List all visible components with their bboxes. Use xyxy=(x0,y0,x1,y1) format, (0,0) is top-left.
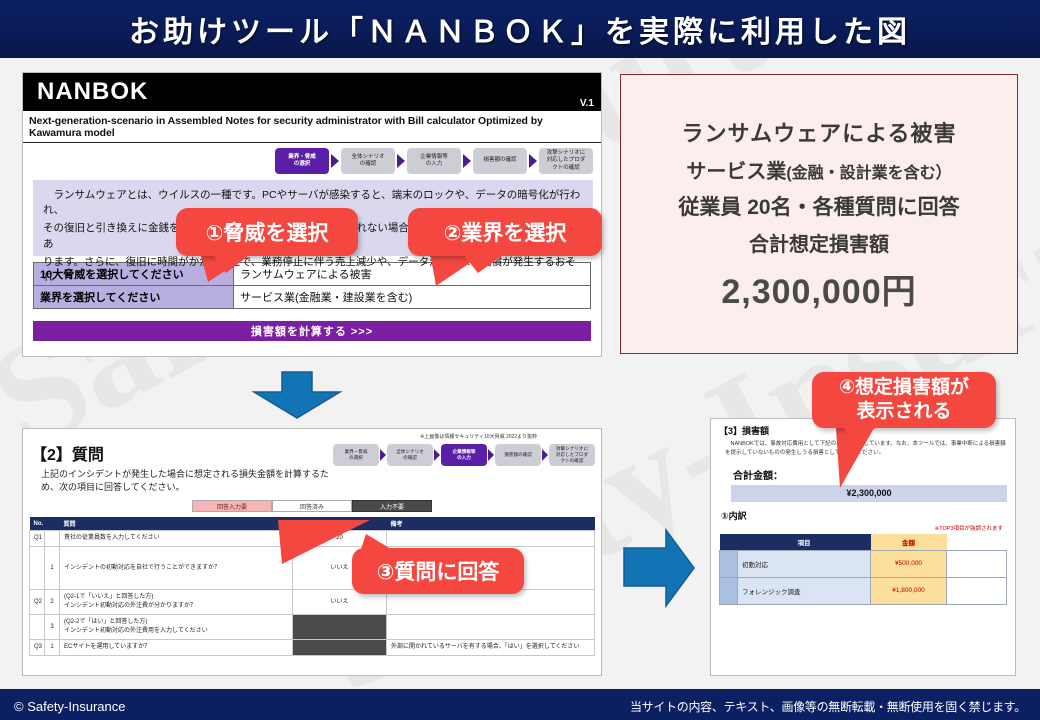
row-question: 貴社の従業員数を入力してください xyxy=(60,531,293,547)
step-arrow-icon xyxy=(542,449,548,461)
step-damage-check[interactable]: 損害額の確認 xyxy=(473,148,527,174)
step-product-check[interactable]: 攻撃シナリオに対応したプロダクトの確認 xyxy=(549,444,595,466)
callout-select-industry: ②業界を選択 xyxy=(408,208,602,256)
step-arrow-icon xyxy=(380,449,386,461)
questions-title: 【2】質問 xyxy=(31,441,333,465)
summary-industry-sub: (金融・設計業を含む） xyxy=(786,165,951,182)
col-memo: メモ xyxy=(947,534,1007,551)
step-damage-check[interactable]: 損害額の確認 xyxy=(495,444,541,466)
breakdown-label: ①内訳 xyxy=(721,509,1007,522)
footer-copyright: © Safety-Insurance xyxy=(14,699,125,714)
callout-select-threat: ①脅威を選択 xyxy=(176,208,358,256)
row-question: (Q2-1で「いいえ」と回答した方) インシデント初動対応の外注費が分かりますか… xyxy=(60,590,293,615)
callout-label: ②業界を選択 xyxy=(444,217,567,247)
col-amount: 金額 xyxy=(871,534,947,551)
summary-threat: ランサムウェアによる被害 xyxy=(682,116,957,148)
question-line: インシデント初動対応の外注費用を入力してください xyxy=(64,628,208,634)
summary-total-amount: 2,300,000円 xyxy=(721,264,916,313)
table-header-row: 項目 金額 メモ xyxy=(720,534,1007,551)
row-question: (Q2-2で「はい」と回答した方) インシデント初動対応の外注費用を入力してくだ… xyxy=(60,615,293,640)
answer-status-legend: 回答入力要 回答済み 入力不要 xyxy=(29,500,595,512)
arrow-down-icon xyxy=(250,370,344,420)
row-memo xyxy=(387,615,595,640)
row-item: フォレンジック調査 xyxy=(738,577,871,604)
step-arrow-icon xyxy=(434,449,440,461)
step-scenario[interactable]: 全体シナリオの確認 xyxy=(341,148,395,174)
col-memo: 備考 xyxy=(387,517,595,531)
app-logo: NANBOK xyxy=(37,78,148,106)
row-no xyxy=(30,547,45,590)
table-row: Q3 1 ECサイトを運用していますか？ 外部に開かれているサーバを有する場合、… xyxy=(30,640,595,656)
row-answer-disabled xyxy=(293,640,387,656)
row-subno xyxy=(45,531,60,547)
footer-notice: 当サイトの内容、テキスト、画像等の無断転載・無断使用を固く禁じます。 xyxy=(630,698,1026,715)
callout-label-line2: 表示される xyxy=(856,400,951,424)
step-arrow-icon xyxy=(331,154,339,168)
total-amount-value: ¥2,300,000 xyxy=(846,488,891,498)
row-subno: 2 xyxy=(45,590,60,615)
legend-answered: 回答済み xyxy=(272,500,352,512)
col-no: No. xyxy=(30,517,60,531)
table-row: フォレンジック調査 ¥1,800,000 xyxy=(720,577,1007,604)
summary-total-label: 合計想定損害額 xyxy=(749,228,889,257)
row-no xyxy=(30,615,45,640)
summary-employees: 従業員 20名・各種質問に回答 xyxy=(678,191,959,221)
row-rank-bar xyxy=(720,550,738,577)
row-item: 初動対応 xyxy=(738,550,871,577)
row-amount: ¥500,000 xyxy=(871,550,947,577)
calculate-damage-button[interactable]: 損害額を計算する >>> xyxy=(33,321,591,341)
row-memo xyxy=(947,577,1007,604)
row-question: インシデントの初動対応を自社で行うことができますか？ xyxy=(60,547,293,590)
table-row: 初動対応 ¥500,000 xyxy=(720,550,1007,577)
row-no: Q1 xyxy=(30,531,45,547)
app-titlebar: NANBOK V.1 xyxy=(23,73,601,111)
step-product-check[interactable]: 攻撃シナリオに対応したプロダクトの確認 xyxy=(539,148,593,174)
callout-tail-icon xyxy=(462,253,506,273)
row-no: Q2 xyxy=(30,590,45,615)
summary-industry: サービス業(金融・設計業を含む） xyxy=(686,155,951,184)
row-rank-bar xyxy=(720,577,738,604)
col-question: 質問 xyxy=(60,517,293,531)
top3-note: ※TOP3項目が強調されます xyxy=(719,524,1003,532)
questions-subtitle: 上記のインシデントが発生した場合に想定される損失金額を計算するため、次の項目に回… xyxy=(41,467,333,493)
col-item: 項目 xyxy=(738,534,871,551)
legend-needs-answer: 回答入力要 xyxy=(192,500,272,512)
table-row: 3 (Q2-2で「はい」と回答した方) インシデント初動対応の外注費用を入力して… xyxy=(30,615,595,640)
industry-select-value[interactable]: サービス業(金融業・建設業を含む) xyxy=(234,286,590,308)
row-memo: 外部に開かれているサーバを有する場合、「はい」を選択してください xyxy=(387,640,595,656)
row-no: Q3 xyxy=(30,640,45,656)
row-subno: 3 xyxy=(45,615,60,640)
arrow-right-icon xyxy=(622,528,696,608)
row-memo xyxy=(947,550,1007,577)
question-line: (Q2-1で「いいえ」と回答した方) xyxy=(64,594,153,600)
row-subno: 1 xyxy=(45,547,60,590)
app-version: V.1 xyxy=(580,98,594,109)
step-industry-threat[interactable]: 業界・脅威の選択 xyxy=(333,444,379,466)
breakdown-table: 項目 金額 メモ 初動対応 ¥500,000 フォレンジック調査 ¥1,800,… xyxy=(719,534,1007,605)
step-arrow-icon xyxy=(397,154,405,168)
app-subtitle: Next-generation-scenario in Assembled No… xyxy=(23,111,601,143)
step-industry-threat[interactable]: 業界・脅威の選択 xyxy=(275,148,329,174)
callout-answer-questions: ③質問に回答 xyxy=(352,548,524,594)
app-step-nav: 業界・脅威の選択 全体シナリオの確認 企業情報等の入力 損害額の確認 攻撃シナリ… xyxy=(23,143,601,178)
legend-not-required: 入力不要 xyxy=(352,500,432,512)
step-company-info[interactable]: 企業情報等の入力 xyxy=(441,444,487,466)
page-footer: © Safety-Insurance 当サイトの内容、テキスト、画像等の無断転載… xyxy=(0,692,1040,720)
industry-select-label: 業界を選択してください xyxy=(34,286,234,308)
callout-tail-icon xyxy=(360,534,396,552)
callout-label-line1: ④想定損害額が xyxy=(839,376,969,400)
callout-label: ③質問に回答 xyxy=(377,556,500,586)
step-arrow-icon xyxy=(488,449,494,461)
questions-step-nav: 業界・脅威の選択 全体シナリオの確認 企業情報等の入力 損害額の確認 攻撃シナリ… xyxy=(333,440,595,466)
question-line: (Q2-2で「はい」と回答した方) xyxy=(64,619,147,625)
question-line: インシデント初動対応の外注費が分かりますか？ xyxy=(64,603,196,609)
summary-industry-main: サービス業 xyxy=(686,161,786,183)
row-amount: ¥1,800,000 xyxy=(871,577,947,604)
step-company-info[interactable]: 企業情報等の入力 xyxy=(407,148,461,174)
col-spacer xyxy=(720,534,738,551)
questions-header: 【2】質問 上記のインシデントが発生した場合に想定される損失金額を計算するため、… xyxy=(29,440,595,493)
questions-source-note: ※上画像は情報セキュリティ10大脅威 2022より抜粋 xyxy=(29,433,595,440)
callout-label: ①脅威を選択 xyxy=(206,217,329,247)
page-title: お助けツール「ＮＡＮＢＯＫ」を実際に利用した図 xyxy=(129,7,911,51)
row-question: ECサイトを運用していますか？ xyxy=(60,640,293,656)
summary-infobox: ランサムウェアによる被害 サービス業(金融・設計業を含む） 従業員 20名・各種… xyxy=(620,74,1018,354)
page-header: お助けツール「ＮＡＮＢＯＫ」を実際に利用した図 xyxy=(0,0,1040,58)
callout-tail-icon xyxy=(842,424,880,446)
step-scenario[interactable]: 全体シナリオの確認 xyxy=(387,444,433,466)
table-row: 業界を選択してください サービス業(金融業・建設業を含む) xyxy=(34,286,590,308)
callout-tail-icon xyxy=(212,253,252,273)
step-arrow-icon xyxy=(463,154,471,168)
callout-damage-displayed: ④想定損害額が 表示される xyxy=(812,372,996,428)
row-memo xyxy=(387,531,595,547)
row-subno: 1 xyxy=(45,640,60,656)
step-arrow-icon xyxy=(529,154,537,168)
row-answer-disabled xyxy=(293,615,387,640)
